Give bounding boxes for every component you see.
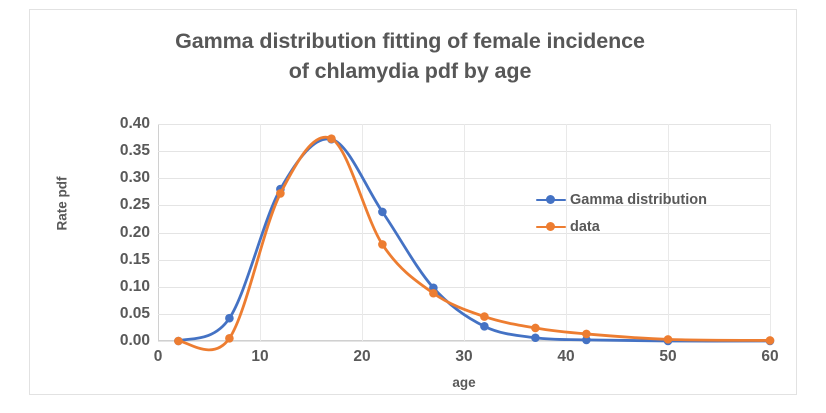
data-point-marker [531,324,540,333]
x-axis-tick-label: 0 [154,348,163,366]
data-point-marker [225,334,234,343]
data-point-marker [327,134,336,143]
y-axis-tick-label: 0.35 [120,142,150,160]
data-point-marker [429,289,438,298]
y-axis-tick-label: 0.05 [120,305,150,323]
x-axis-title: age [158,375,770,390]
data-point-marker [480,312,489,321]
legend-label: data [570,219,600,235]
legend-entry-data[interactable]: data [536,213,726,240]
y-axis-tick-labels: 0.000.050.100.150.200.250.300.350.40 [96,112,150,353]
gridline-vertical [770,124,771,341]
chart-title-line-2: of chlamydia pdf by age [100,56,720,86]
chart-title: Gamma distribution fitting of female inc… [100,26,720,86]
legend-label: Gamma distribution [570,192,707,208]
data-point-marker [378,240,387,249]
legend-dot-icon [546,195,555,204]
y-axis-tick-label: 0.30 [120,169,150,187]
y-axis-tick-label: 0.15 [120,251,150,269]
y-axis-tick-label: 0.20 [120,224,150,242]
x-axis-tick-label: 60 [761,348,778,366]
x-axis-tick-label: 20 [353,348,370,366]
legend-entry-gamma-distribution[interactable]: Gamma distribution [536,186,726,213]
x-axis-tick-label: 40 [557,348,574,366]
x-axis-tick-label: 30 [455,348,472,366]
data-point-marker [480,322,489,331]
data-point-marker [225,314,234,323]
data-point-marker [276,189,285,198]
legend-color-swatch [536,220,566,234]
y-axis-tick-label: 0.00 [120,332,150,350]
data-point-marker [531,333,540,342]
series-data [174,134,774,350]
series-line [178,137,770,350]
data-point-marker [378,208,387,217]
data-point-marker [582,330,591,339]
y-axis-tick-label: 0.10 [120,278,150,296]
chart-container: Gamma distribution fitting of female inc… [0,0,826,413]
chart-legend: Gamma distributiondata [536,186,726,240]
data-point-marker [664,335,673,344]
data-point-marker [174,337,183,346]
x-axis-tick-labels: 0102030405060 [158,348,770,372]
x-axis-tick-label: 50 [659,348,676,366]
y-axis-title: Rate pdf [55,134,70,274]
chart-title-line-1: Gamma distribution fitting of female inc… [100,26,720,56]
legend-color-swatch [536,193,566,207]
data-point-marker [766,336,775,345]
x-axis-tick-label: 10 [251,348,268,366]
legend-dot-icon [546,222,555,231]
y-axis-tick-label: 0.40 [120,115,150,133]
y-axis-tick-label: 0.25 [120,196,150,214]
